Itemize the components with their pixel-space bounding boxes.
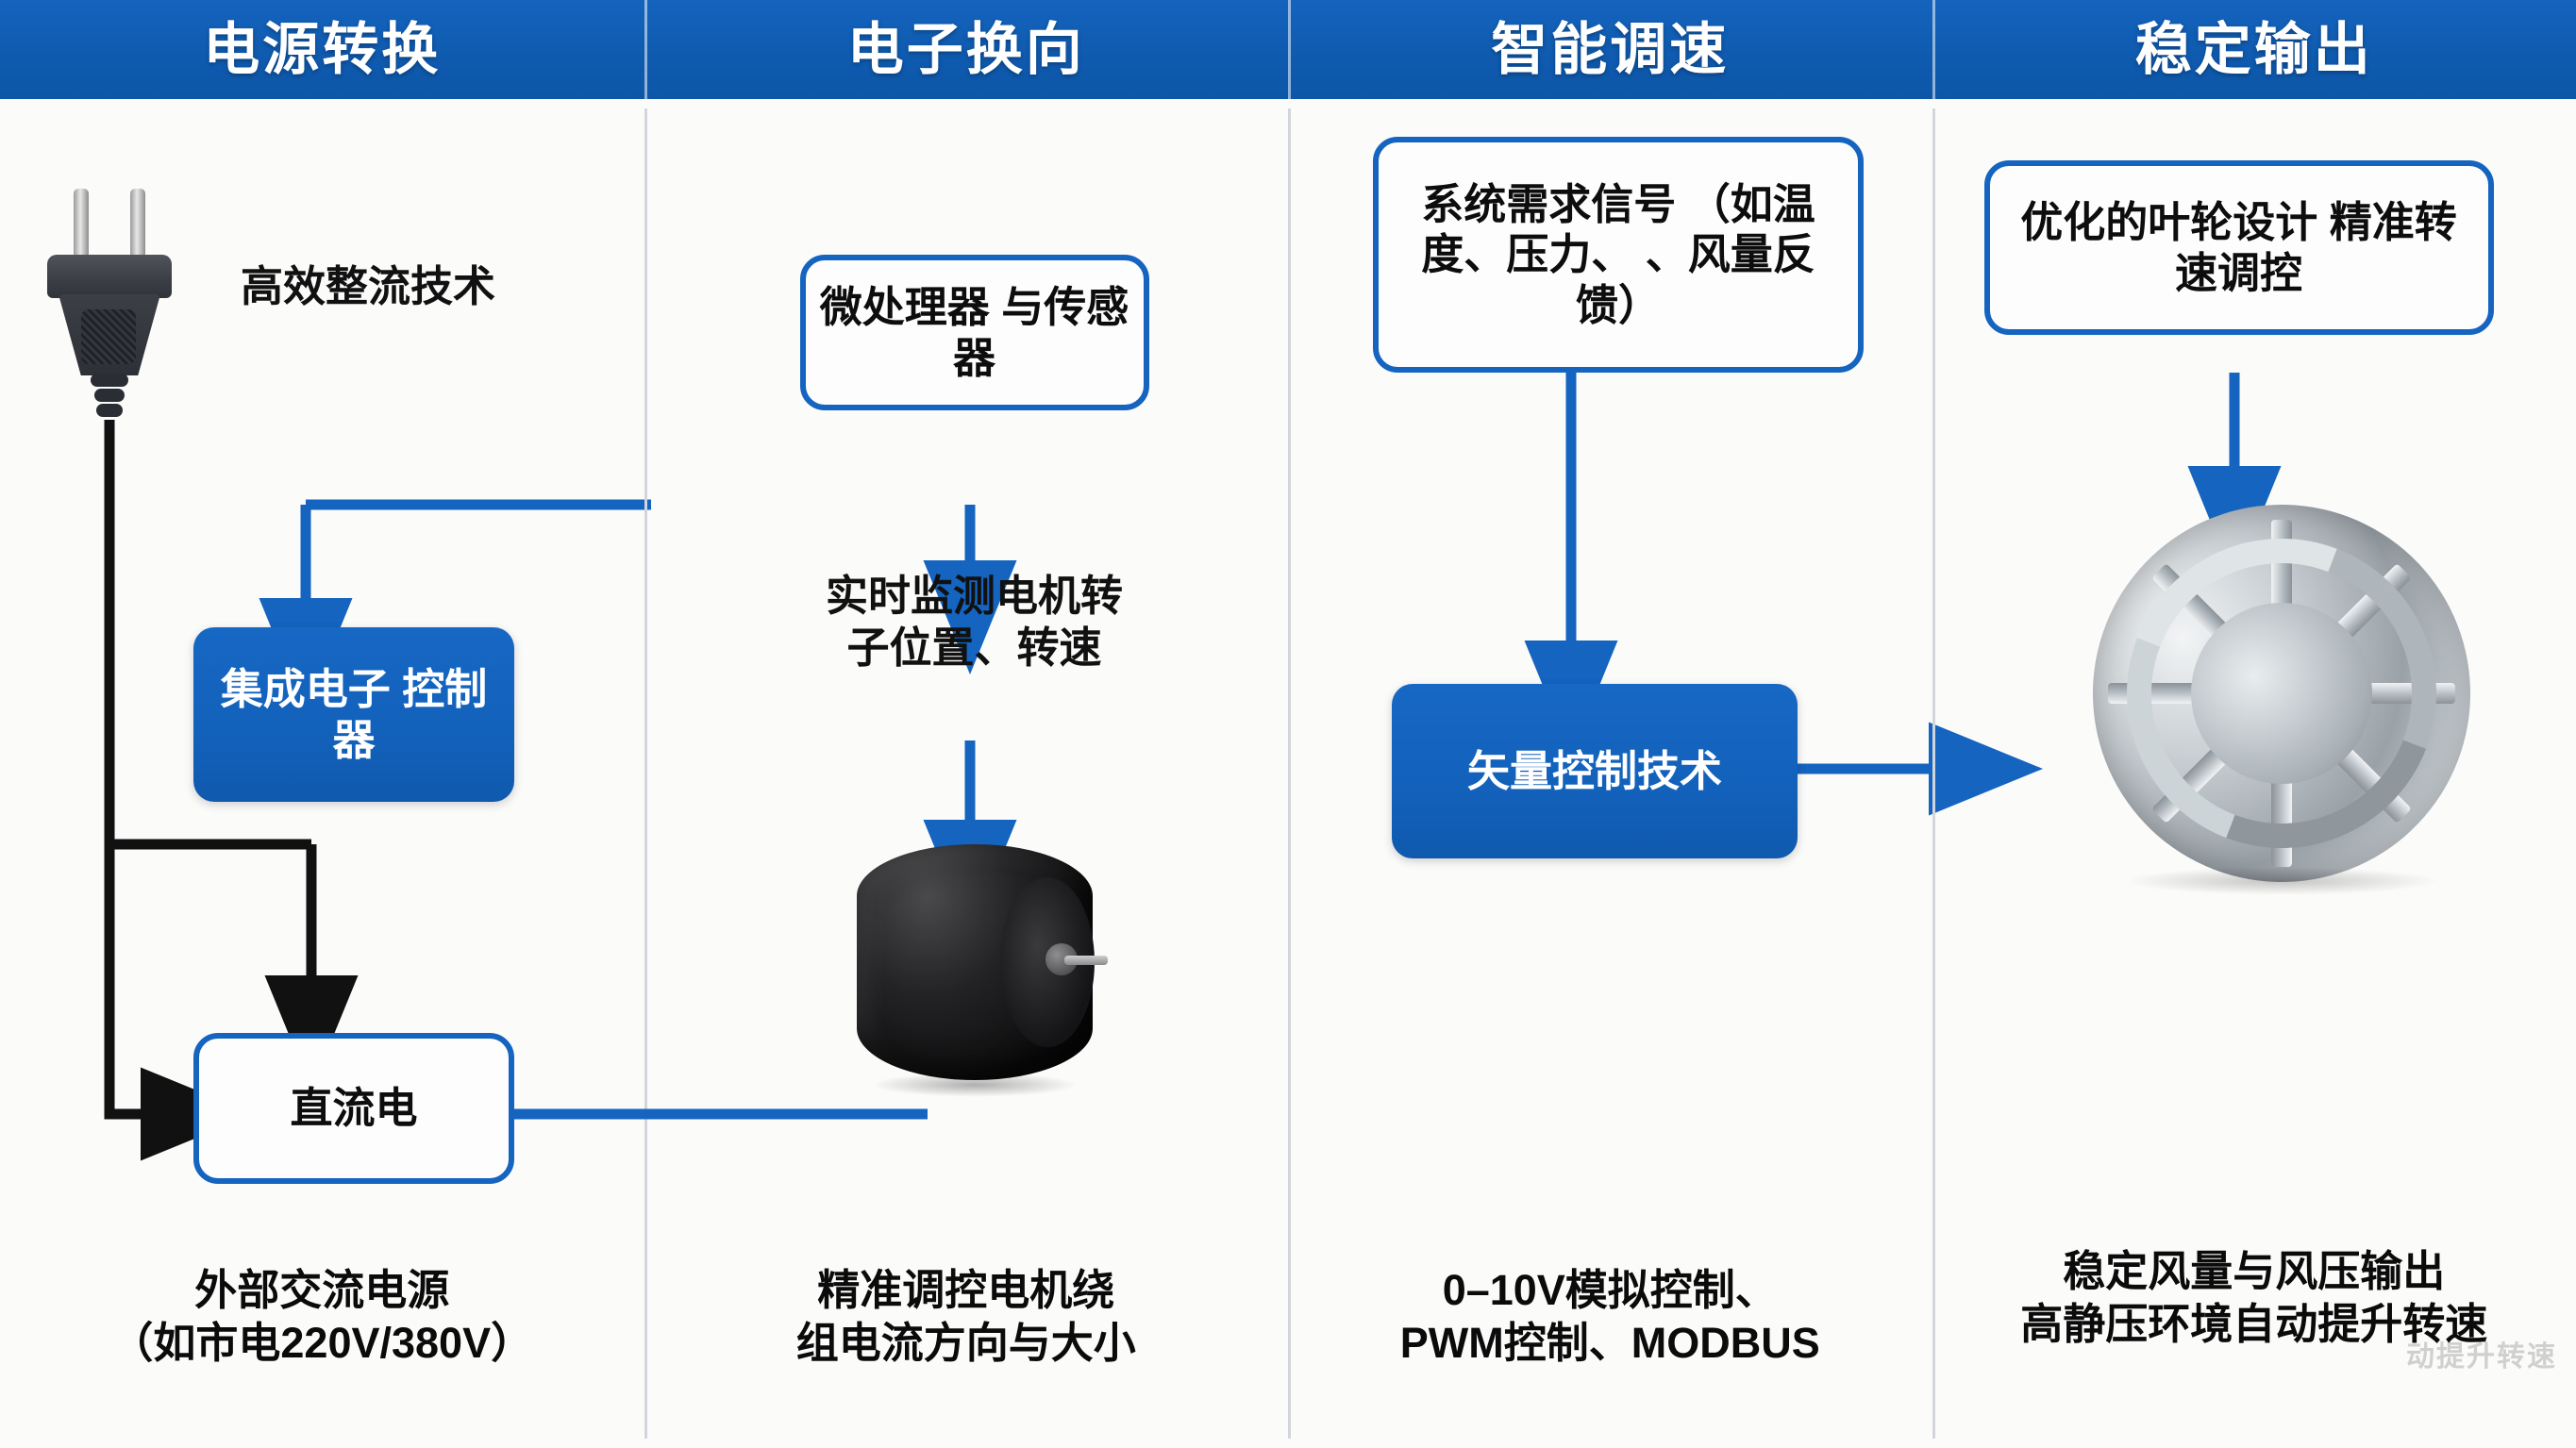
column-electronic-commutation: 微处理器 与传感器 实时监测电机转 子位置、转速 精准调控电机绕 组电流方向与大… (644, 99, 1289, 1448)
header-cell-intelligent-speed: 智能调速 (1288, 0, 1932, 99)
infographic-root: 电源转换 电子换向 智能调速 稳定输出 (0, 0, 2576, 1448)
column-stable-output: 优化的叶轮设计 精准转速调控 稳定风量与风压输出 高静压环境自动提升转速 动提升… (1932, 99, 2576, 1448)
header-band: 电源转换 电子换向 智能调速 稳定输出 (0, 0, 2576, 99)
box-dc-power[interactable]: 直流电 (193, 1033, 514, 1184)
header-title-1: 电源转换 (203, 22, 441, 78)
column-power-conversion: 高效整流技术 集成电子 控制器 直流电 外部交流电源 （如市电220V/380V… (0, 99, 644, 1448)
label-realtime-rotor-monitoring: 实时监测电机转 子位置、转速 (739, 571, 1211, 674)
box-microprocessor-sensor[interactable]: 微处理器 与传感器 (800, 255, 1149, 410)
header-title-4: 稳定输出 (2135, 22, 2373, 78)
box-vector-control-technology[interactable]: 矢量控制技术 (1392, 684, 1798, 858)
header-title-2: 电子换向 (847, 22, 1085, 78)
column-intelligent-speed: 系统需求信号 （如温度、压力、 、风量反馈） 矢量控制技术 0–10V模拟控制、… (1288, 99, 1932, 1448)
header-cell-power-conversion: 电源转换 (0, 0, 644, 99)
header-cell-stable-output: 稳定输出 (1932, 0, 2576, 99)
caption-precise-winding-current: 精准调控电机绕 组电流方向与大小 (644, 1264, 1289, 1371)
box-integrated-controller[interactable]: 集成电子 控制器 (193, 627, 514, 802)
box-system-demand-signal[interactable]: 系统需求信号 （如温度、压力、 、风量反馈） (1373, 137, 1864, 373)
label-high-efficiency-rectification: 高效整流技术 (189, 261, 547, 313)
watermark-text: 动提升转速 (2406, 1333, 2557, 1374)
body-area: 高效整流技术 集成电子 控制器 直流电 外部交流电源 （如市电220V/380V… (0, 99, 2576, 1448)
impeller-icon (2093, 505, 2470, 882)
caption-external-ac-source: 外部交流电源 （如市电220V/380V） (0, 1264, 644, 1371)
header-cell-electronic-commutation: 电子换向 (644, 0, 1289, 99)
bldc-motor-icon (857, 844, 1093, 1080)
box-optimized-impeller-design[interactable]: 优化的叶轮设计 精准转速调控 (1984, 160, 2494, 335)
header-title-3: 智能调速 (1491, 22, 1729, 78)
caption-control-interfaces: 0–10V模拟控制、 PWM控制、MODBUS (1288, 1264, 1932, 1371)
